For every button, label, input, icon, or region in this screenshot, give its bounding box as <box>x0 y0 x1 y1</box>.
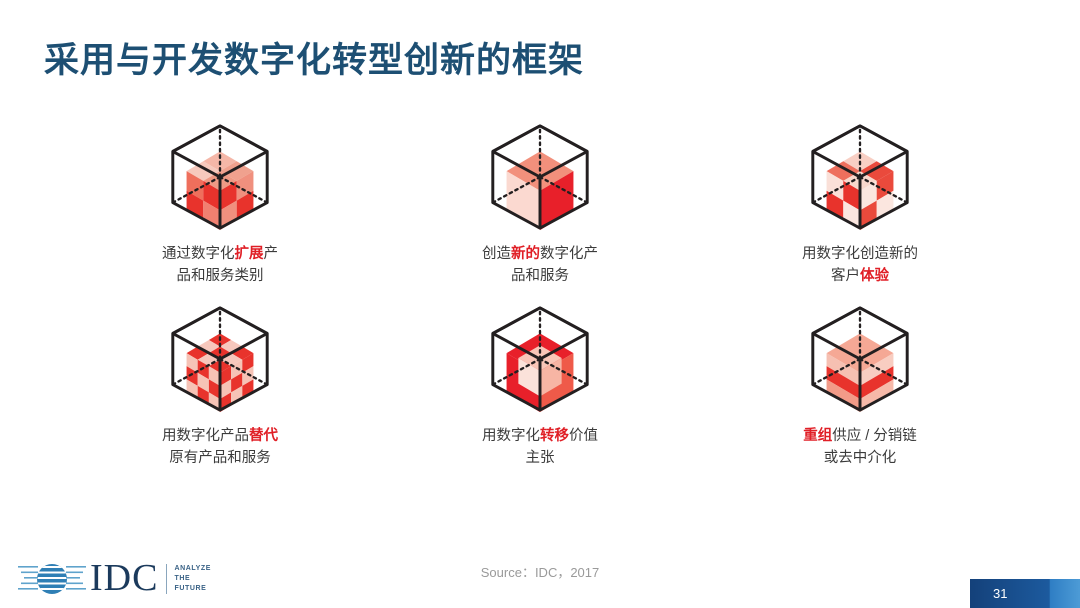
caption-pre: 用数字化 <box>482 428 540 444</box>
caption-line2: 品和服务类别 <box>177 268 264 284</box>
card-caption: 通过数字化扩展产 品和服务类别 <box>110 244 330 288</box>
logo-tagline: ANALYZE THE FUTURE <box>174 564 211 594</box>
caption-line2: 主张 <box>526 450 555 466</box>
idc-logo: IDC ANALYZE THE FUTURE <box>16 556 211 602</box>
card-caption: 创造新的数字化产 品和服务 <box>430 244 650 288</box>
caption-highlight: 替代 <box>249 428 278 444</box>
cube-experience-icon <box>801 118 919 236</box>
caption-pre: 用数字化创造新的 <box>802 246 918 262</box>
caption-line2: 或去中介化 <box>824 450 897 466</box>
caption-line2: 原有产品和服务 <box>169 450 271 466</box>
slide-root: 采用与开发数字化转型创新的框架 <box>0 0 1080 608</box>
globe-icon <box>16 557 88 601</box>
framework-card[interactable]: 用数字化产品替代 原有产品和服务 <box>60 300 380 482</box>
page-number-bar: 31 <box>970 579 1080 608</box>
card-caption: 用数字化产品替代 原有产品和服务 <box>110 426 330 470</box>
cube-replace-icon <box>161 300 279 418</box>
caption-highlight: 扩展 <box>235 246 264 262</box>
page-number: 31 <box>993 586 1007 601</box>
caption-post: 供应 / 分销链 <box>832 428 917 444</box>
caption-line2: 品和服务 <box>511 268 569 284</box>
caption-highlight: 体验 <box>860 268 889 284</box>
framework-card[interactable]: 创造新的数字化产 品和服务 <box>380 118 700 300</box>
caption-pre: 用数字化产品 <box>162 428 249 444</box>
framework-grid: 通过数字化扩展产 品和服务类别 <box>60 118 1020 482</box>
framework-card[interactable]: 重组供应 / 分销链 或去中介化 <box>700 300 1020 482</box>
caption-post: 产 <box>264 246 279 262</box>
caption-post: 数字化产 <box>540 246 598 262</box>
caption-highlight: 重组 <box>803 428 832 444</box>
caption-highlight: 转移 <box>540 428 569 444</box>
framework-card[interactable]: 用数字化创造新的 客户体验 <box>700 118 1020 300</box>
logo-tagline-line2: THE <box>174 574 211 584</box>
card-caption: 用数字化转移价值 主张 <box>430 426 650 470</box>
caption-pre: 创造 <box>482 246 511 262</box>
caption-line2-pre: 客户 <box>831 268 860 284</box>
caption-pre: 通过数字化 <box>162 246 235 262</box>
caption-highlight: 新的 <box>511 246 540 262</box>
cube-expand-icon <box>161 118 279 236</box>
card-caption: 用数字化创造新的 客户体验 <box>750 244 970 288</box>
page-title: 采用与开发数字化转型创新的框架 <box>44 32 584 83</box>
logo-wordmark: IDC <box>90 559 158 597</box>
logo-tagline-line1: ANALYZE <box>174 564 211 574</box>
logo-divider <box>166 564 167 594</box>
card-caption: 重组供应 / 分销链 或去中介化 <box>750 426 970 470</box>
framework-card[interactable]: 通过数字化扩展产 品和服务类别 <box>60 118 380 300</box>
cube-transfer-icon <box>481 300 599 418</box>
framework-card[interactable]: 用数字化转移价值 主张 <box>380 300 700 482</box>
logo-tagline-line3: FUTURE <box>174 584 211 594</box>
caption-post: 价值 <box>569 428 598 444</box>
cube-restructure-icon <box>801 300 919 418</box>
cube-new-icon <box>481 118 599 236</box>
